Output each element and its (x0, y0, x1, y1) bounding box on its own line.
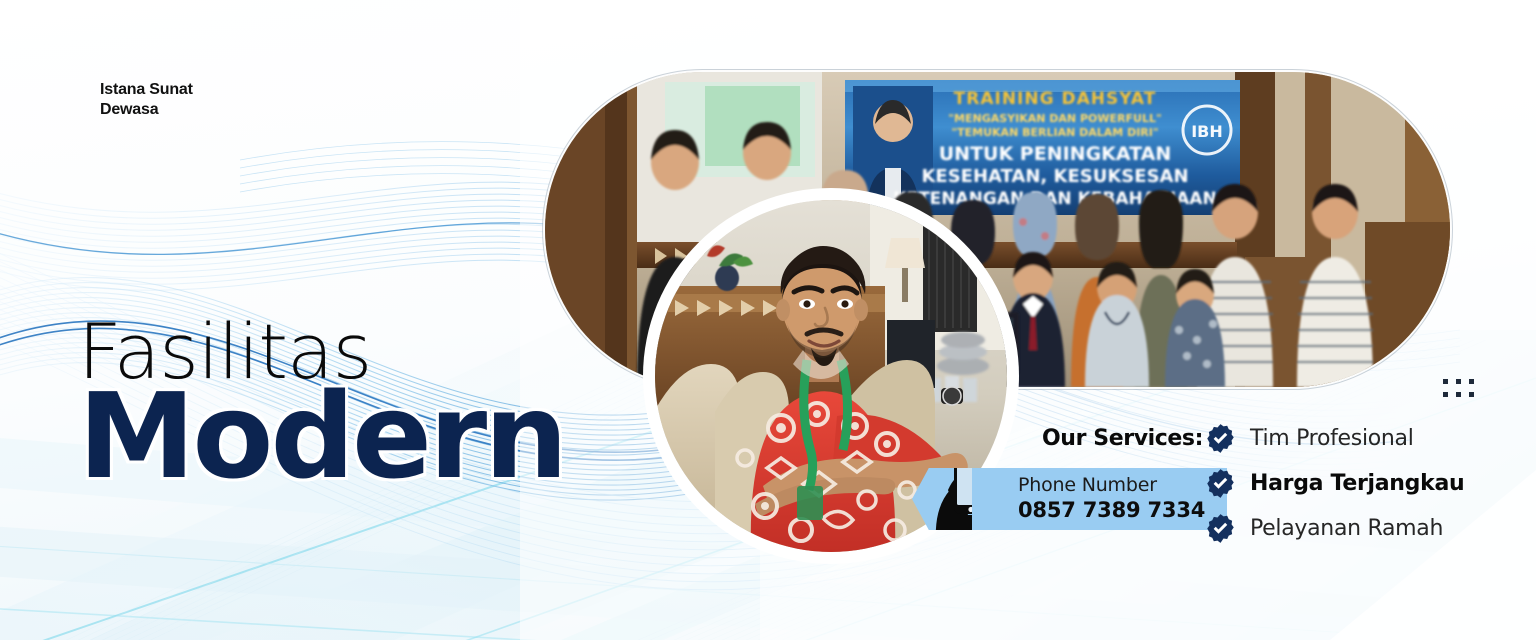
promotional-banner: Istana Sunat Dewasa Fasilitas Modern (0, 0, 1536, 640)
phone-label: Phone Number (1018, 474, 1205, 498)
phone-number[interactable]: 0857 7389 7334 (1018, 498, 1205, 523)
brand-logo-line-2: Dewasa (100, 100, 193, 120)
dot (1456, 379, 1461, 384)
services-list: Tim Profesional Harga Terjangkau Pelayan… (1205, 422, 1464, 544)
dot (1469, 392, 1474, 397)
service-item-2[interactable]: Harga Terjangkau (1205, 467, 1464, 499)
check-badge-icon (1205, 468, 1236, 499)
services-heading: Our Services: (1042, 426, 1203, 451)
dot (1469, 379, 1474, 384)
brand-logo: Istana Sunat Dewasa (100, 80, 193, 119)
svg-text:KESEHATAN, KESUKSESAN: KESEHATAN, KESUKSESAN (921, 166, 1188, 187)
service-item-3[interactable]: Pelayanan Ramah (1205, 512, 1464, 544)
brand-logo-line-1: Istana Sunat (100, 80, 193, 100)
phone-cta-arrow (912, 468, 972, 530)
dot-grid-decoration (1443, 379, 1474, 397)
svg-text:TRAINING DAHSYAT: TRAINING DAHSYAT (954, 89, 1157, 109)
dot (1443, 379, 1448, 384)
phone-cta[interactable]: Phone Number 0857 7389 7334 (912, 468, 1227, 530)
svg-text:"TEMUKAN BERLIAN DALAM DIRI": "TEMUKAN BERLIAN DALAM DIRI" (951, 126, 1158, 139)
check-badge-icon (1205, 423, 1236, 454)
service-item-1[interactable]: Tim Profesional (1205, 422, 1464, 454)
svg-text:IBH: IBH (1191, 122, 1223, 141)
dot (1456, 392, 1461, 397)
headline-bold: Modern (78, 380, 565, 493)
service-label-3: Pelayanan Ramah (1250, 516, 1443, 541)
service-label-2: Harga Terjangkau (1250, 471, 1464, 496)
page-title: Fasilitas Modern (78, 316, 565, 493)
dot (1443, 392, 1448, 397)
svg-text:"MENGASYIKAN DAN POWERFULL": "MENGASYIKAN DAN POWERFULL" (948, 112, 1161, 125)
service-label-1: Tim Profesional (1250, 426, 1414, 451)
phone-cta-text: Phone Number 0857 7389 7334 (972, 468, 1227, 530)
svg-text:UNTUK PENINGKATAN: UNTUK PENINGKATAN (939, 143, 1171, 165)
check-badge-icon (1205, 513, 1236, 544)
